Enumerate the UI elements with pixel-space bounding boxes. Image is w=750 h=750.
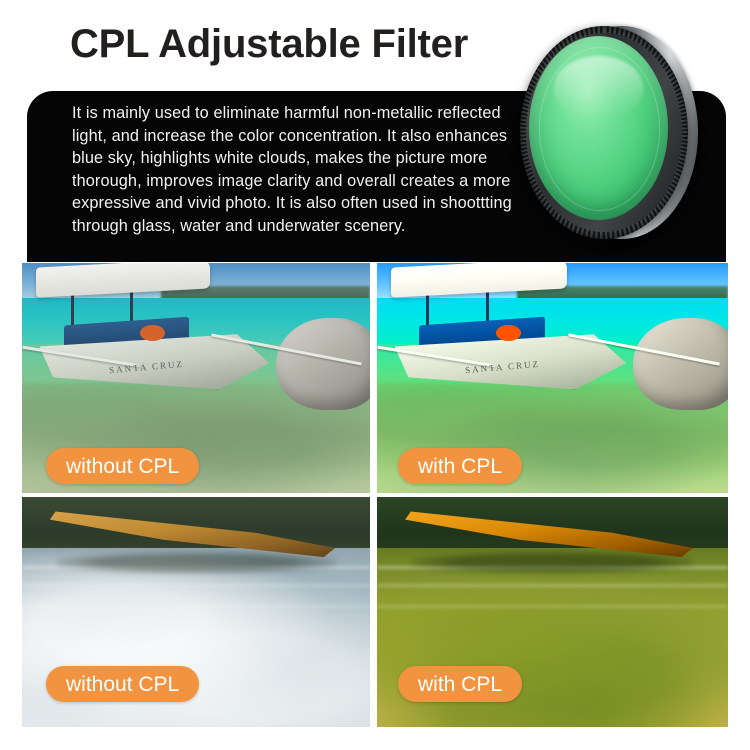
- description-text: It is mainly used to eliminate harmful n…: [72, 102, 517, 237]
- page-title: CPL Adjustable Filter: [70, 22, 468, 67]
- cpl-filter-lens-icon: CPL: [508, 14, 713, 254]
- boat-cargo: [140, 325, 164, 341]
- water-ripple: [377, 605, 728, 608]
- water-ripple: [22, 584, 370, 587]
- badge-with-cpl: with CPL: [398, 448, 522, 484]
- badge-without-cpl: without CPL: [46, 448, 199, 484]
- boat-cargo: [496, 325, 521, 341]
- product-feature-card: CPL Adjustable Filter It is mainly used …: [0, 0, 750, 750]
- badge-with-cpl: with CPL: [398, 666, 522, 702]
- filter-glass-highlight: [554, 56, 643, 119]
- water-ripple: [377, 584, 728, 587]
- badge-without-cpl: without CPL: [46, 666, 199, 702]
- canoe-shadow: [412, 552, 693, 573]
- canoe-shadow: [57, 552, 335, 573]
- filter-green-glass: [529, 36, 668, 220]
- water-ripple: [22, 605, 370, 608]
